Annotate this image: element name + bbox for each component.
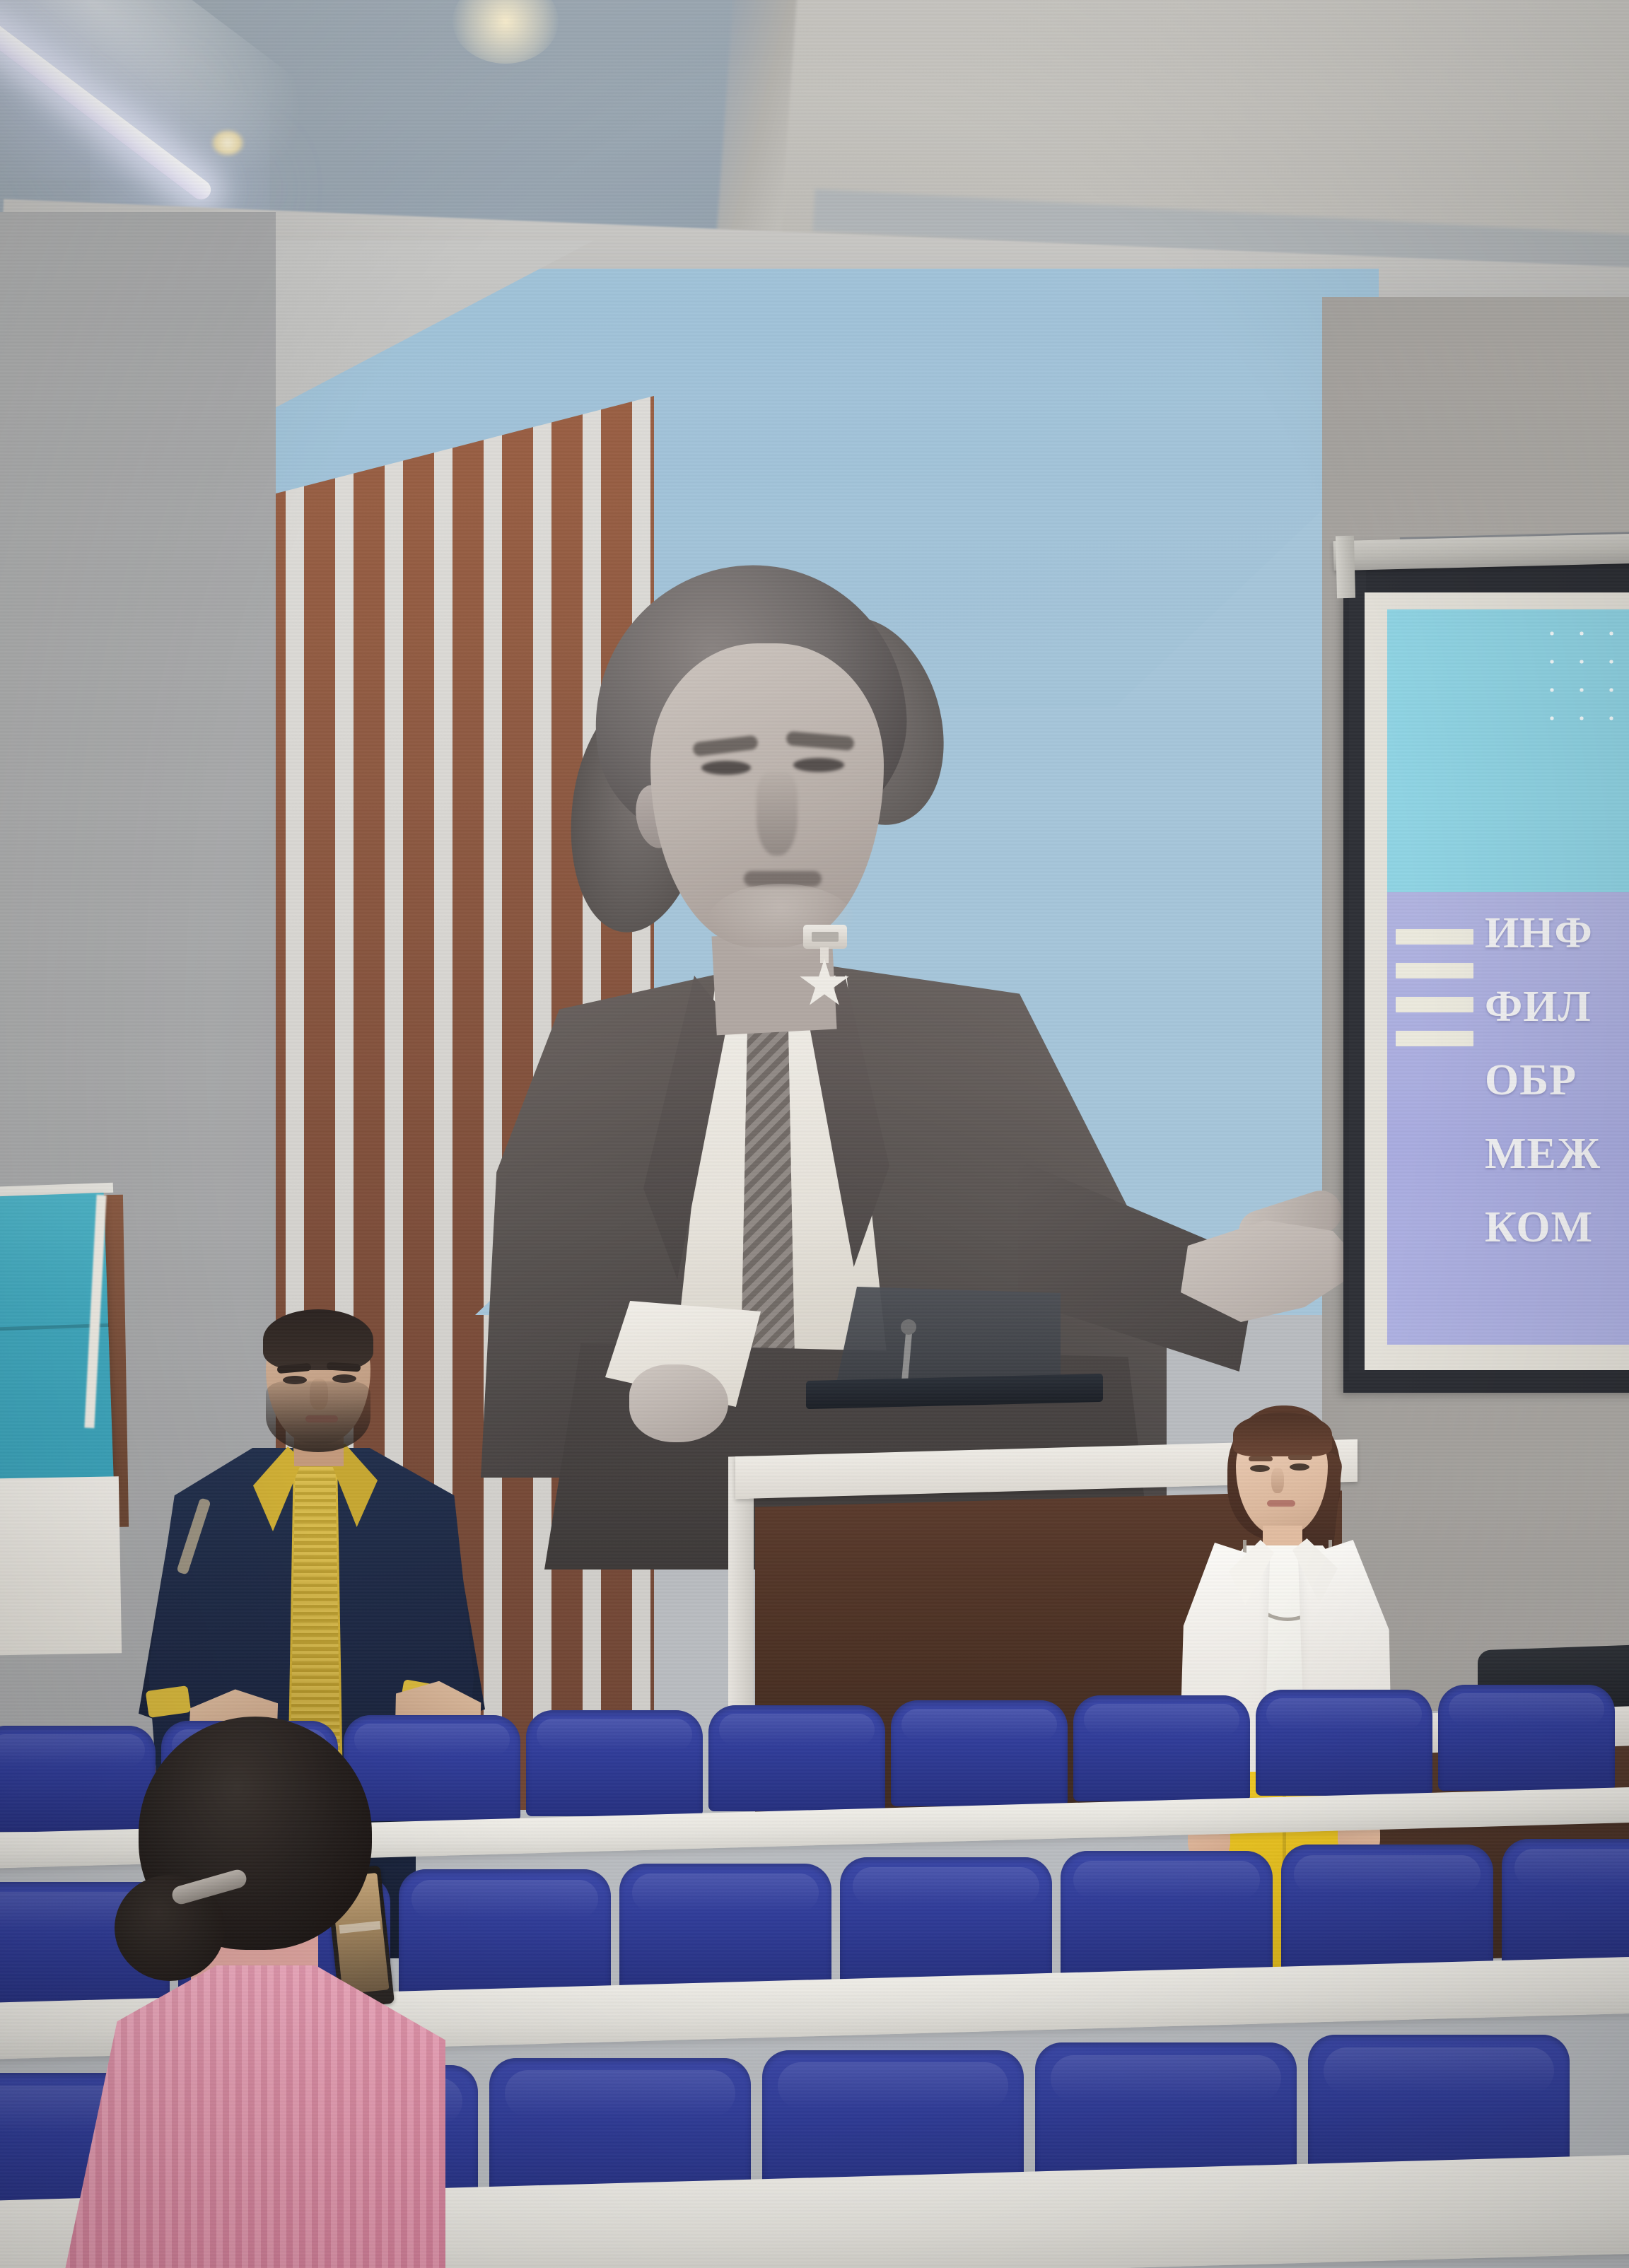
audience-member-top-texture (64, 1965, 445, 2268)
audience-member (64, 1711, 502, 2268)
lecture-hall-photo: ИНФ ФИЛ ОБР МЕЖ КОМ (0, 0, 1629, 2268)
